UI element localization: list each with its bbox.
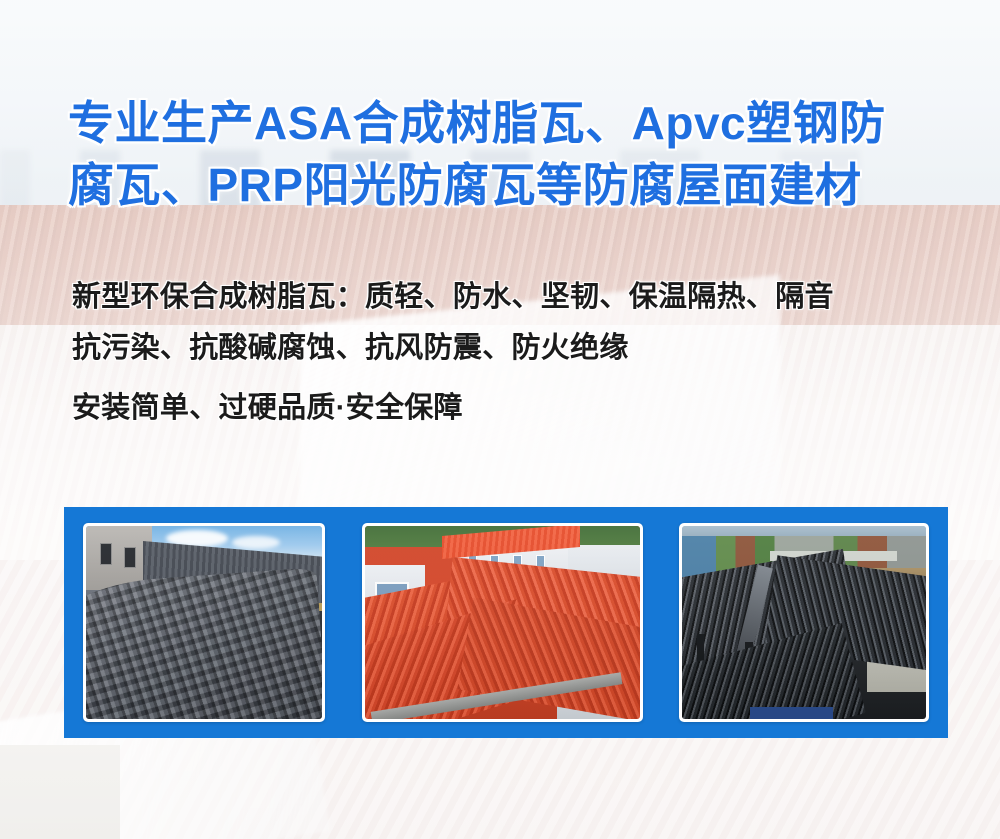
headline-line-2: 腐瓦、PRP阳光防腐瓦等防腐屋面建材 (68, 154, 948, 216)
photo-grey-tile-roof (86, 526, 322, 719)
photo-frame-black-tile-roof[interactable] (679, 523, 929, 722)
subheadline-line-3: 安装简单、过硬品质·安全保障 (72, 383, 962, 434)
photo-red-tile-roof (365, 526, 640, 719)
subheadline-line-1: 新型环保合成树脂瓦：质轻、防水、坚韧、保温隔热、隔音 (72, 272, 962, 323)
headline-line-1: 专业生产ASA合成树脂瓦、Apvc塑钢防 (68, 92, 948, 154)
subheadline-block: 新型环保合成树脂瓦：质轻、防水、坚韧、保温隔热、隔音 抗污染、抗酸碱腐蚀、抗风防… (72, 272, 962, 434)
photo1-cloud (232, 536, 279, 550)
promo-banner: 专业生产ASA合成树脂瓦、Apvc塑钢防 腐瓦、PRP阳光防腐瓦等防腐屋面建材 … (0, 0, 1000, 839)
photo-frame-grey-tile-roof[interactable] (83, 523, 325, 722)
photo1-window (124, 547, 136, 568)
photo-gallery-panel (64, 507, 948, 738)
photo3-blue-tarp (750, 707, 833, 719)
subheadline-line-2: 抗污染、抗酸碱腐蚀、抗风防震、防火绝缘 (72, 323, 962, 374)
photo-frame-red-tile-roof[interactable] (362, 523, 643, 722)
photo-black-tile-roof (682, 526, 926, 719)
banner-content: 专业生产ASA合成树脂瓦、Apvc塑钢防 腐瓦、PRP阳光防腐瓦等防腐屋面建材 … (0, 0, 1000, 839)
photo1-tiled-roof (86, 567, 322, 719)
photo1-window (100, 543, 112, 564)
headline-block: 专业生产ASA合成树脂瓦、Apvc塑钢防 腐瓦、PRP阳光防腐瓦等防腐屋面建材 (68, 92, 948, 216)
